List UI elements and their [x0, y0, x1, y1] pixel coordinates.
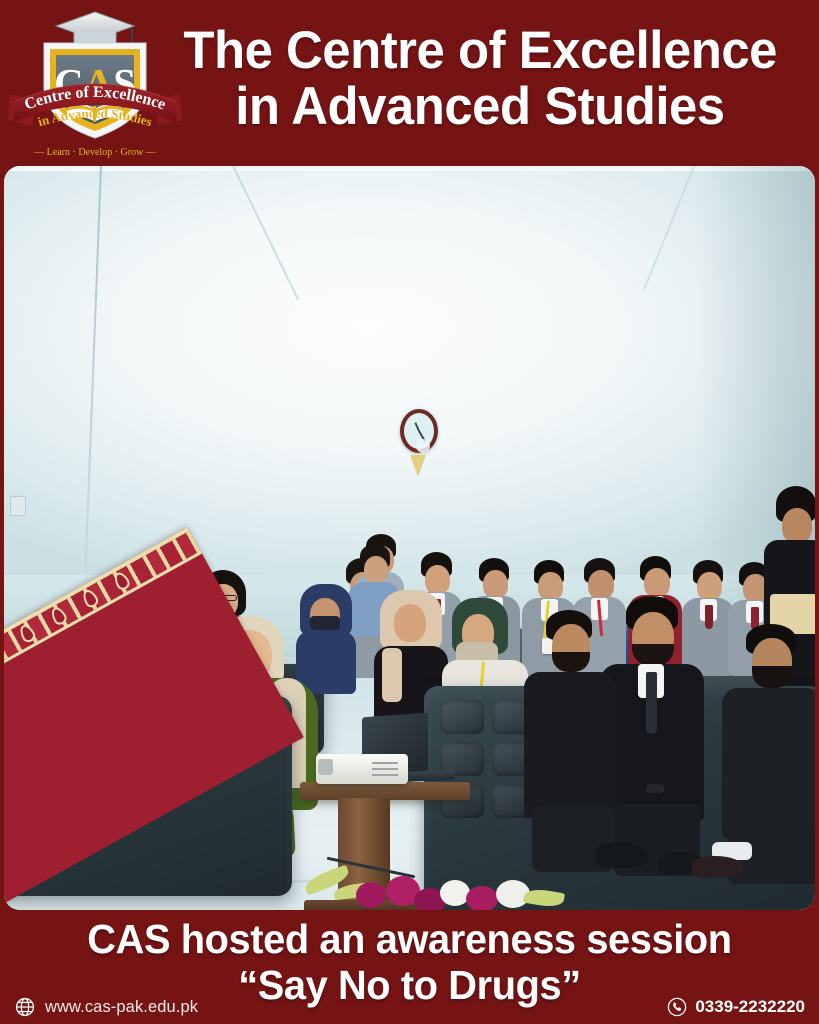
head — [483, 570, 508, 599]
head — [644, 568, 670, 598]
event-photo — [4, 166, 815, 910]
title-line-1: The Centre of Excellence — [183, 23, 777, 79]
clock-pendulum — [410, 455, 426, 477]
head — [394, 604, 426, 642]
flower-magenta — [356, 882, 386, 908]
title-line-2: in Advanced Studies — [235, 79, 724, 135]
footer-website[interactable]: www.cas-pak.edu.pk — [14, 996, 198, 1018]
suit-jacket — [524, 672, 616, 818]
caption-line-1: CAS hosted an awareness session — [12, 916, 806, 962]
globe-icon — [14, 996, 36, 1018]
photo-scene — [4, 166, 815, 910]
person-suit-front-right-2 — [524, 610, 616, 870]
poster-header: CAS Centre of Excellence — [0, 0, 819, 166]
projector-lens — [318, 759, 333, 775]
projector-vent — [372, 762, 398, 764]
flower-magenta — [466, 886, 498, 910]
wall-clock — [400, 409, 438, 463]
poster-title: The Centre of Excellence in Advanced Stu… — [150, 14, 810, 144]
shawl-drape — [382, 648, 402, 702]
footer-phone[interactable]: 0339-2232220 — [666, 996, 805, 1018]
phone-text: 0339-2232220 — [695, 997, 805, 1017]
poster: CAS Centre of Excellence — [0, 0, 819, 1024]
website-text: www.cas-pak.edu.pk — [45, 998, 198, 1017]
wall-socket — [10, 496, 26, 516]
projector-vent — [372, 774, 398, 776]
shoe-right-3 — [692, 856, 744, 878]
beard — [552, 652, 590, 672]
tie — [705, 605, 713, 629]
clock-bell — [416, 439, 430, 453]
head — [538, 572, 563, 601]
sofa-tuft — [440, 700, 484, 734]
wristwatch — [646, 784, 664, 793]
beard — [752, 666, 792, 688]
suit-jacket — [722, 688, 815, 838]
phone-icon — [666, 996, 688, 1018]
head — [782, 508, 812, 544]
shoe-right-1 — [596, 842, 648, 868]
necktie — [646, 672, 657, 734]
projector-vent — [372, 768, 398, 770]
head — [364, 556, 388, 584]
logo-tagline: — Learn · Develop · Grow — — [33, 147, 157, 158]
beard — [632, 644, 674, 666]
